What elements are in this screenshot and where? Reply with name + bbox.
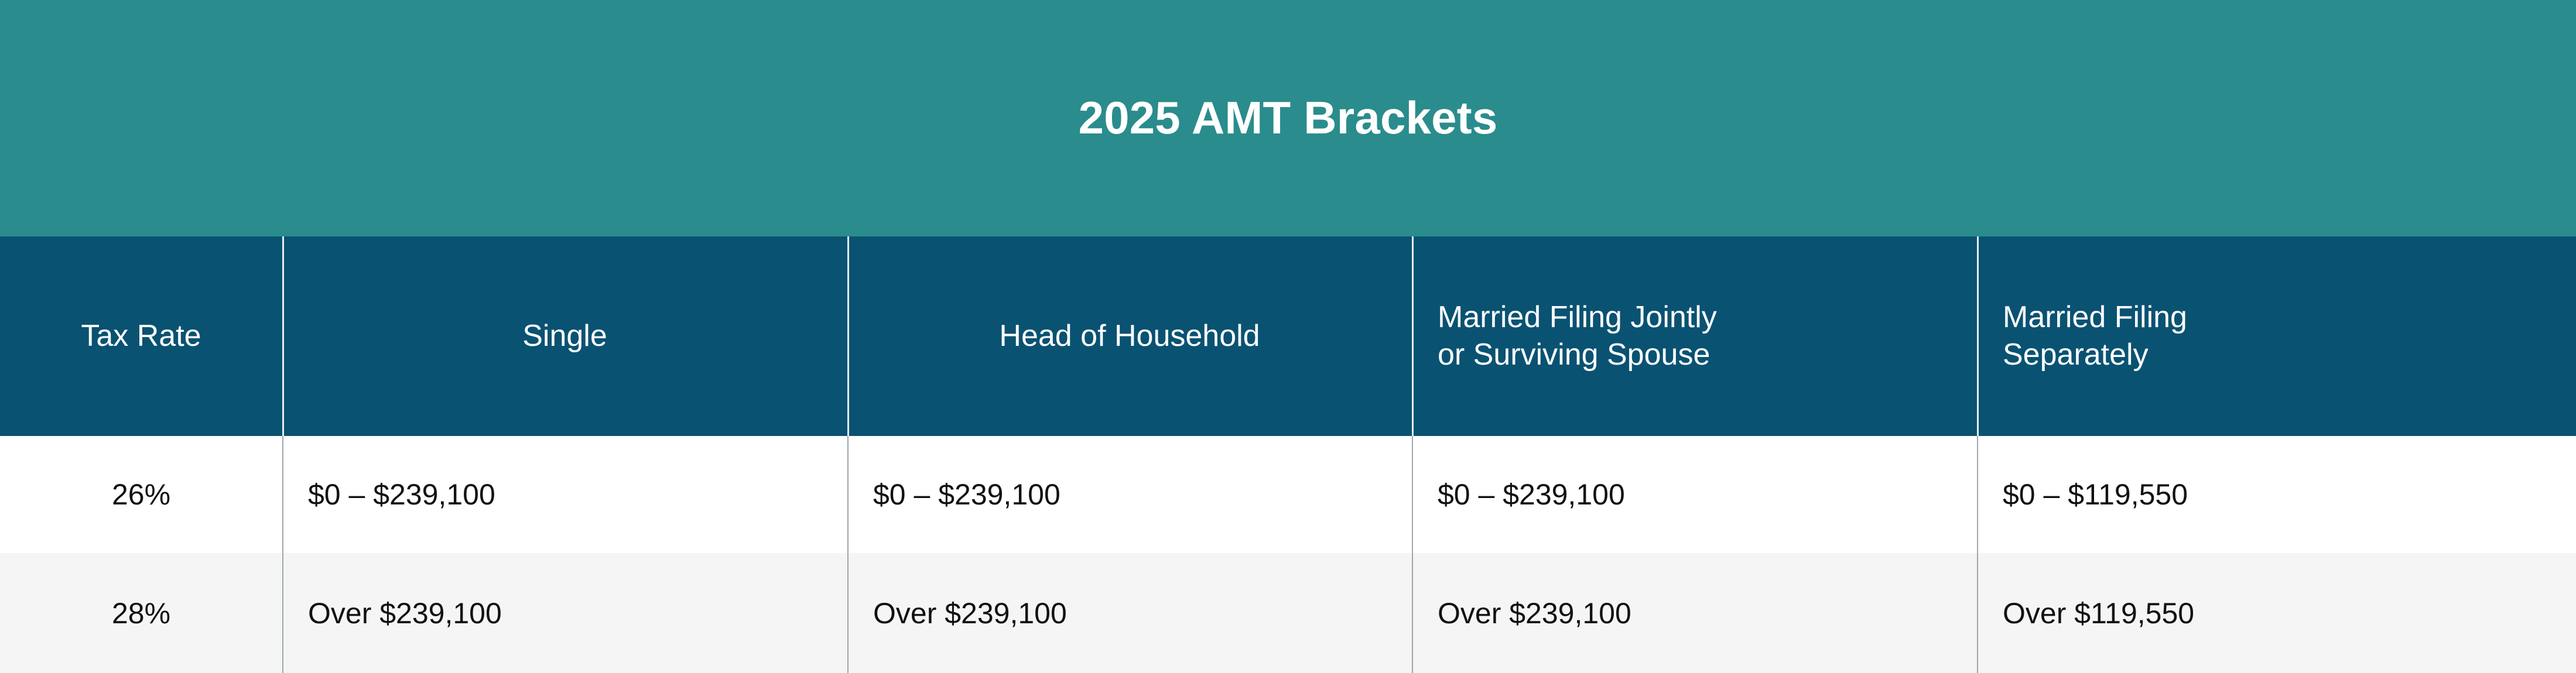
column-header-single-label: Single [522,318,607,355]
cell-single: Over $239,100 [282,553,847,673]
column-header-married-filing-jointly: Married Filing Jointly or Surviving Spou… [1412,236,1977,436]
cell-head-of-household: $0 – $239,100 [847,436,1412,553]
column-header-head-of-household: Head of Household [847,236,1412,436]
column-header-married-filing-jointly-label: Married Filing Jointly or Surviving Spou… [1438,299,1717,374]
column-header-tax-rate: Tax Rate [0,236,282,436]
cell-married-filing-jointly: Over $239,100 [1412,553,1977,673]
table-row: 26% $0 – $239,100 $0 – $239,100 $0 – $23… [0,436,2576,553]
cell-married-filing-jointly: $0 – $239,100 [1412,436,1977,553]
cell-head-of-household: Over $239,100 [847,553,1412,673]
column-header-single: Single [282,236,847,436]
column-header-married-filing-separately-label: Married Filing Separately [2003,299,2187,374]
cell-tax-rate: 28% [0,553,282,673]
table-header-row: Tax Rate Single Head of Household Marrie… [0,236,2576,436]
column-header-married-filing-separately: Married Filing Separately [1977,236,2576,436]
amt-brackets-table: 2025 AMT Brackets Tax Rate Single Head o… [0,0,2576,673]
column-header-tax-rate-label: Tax Rate [81,318,201,355]
column-header-head-of-household-label: Head of Household [999,318,1260,355]
cell-married-filing-separately: $0 – $119,550 [1977,436,2576,553]
table-title-band: 2025 AMT Brackets [0,0,2576,236]
cell-single: $0 – $239,100 [282,436,847,553]
table-row: 28% Over $239,100 Over $239,100 Over $23… [0,553,2576,673]
cell-married-filing-separately: Over $119,550 [1977,553,2576,673]
page-title: 2025 AMT Brackets [1079,93,1498,143]
cell-tax-rate: 26% [0,436,282,553]
